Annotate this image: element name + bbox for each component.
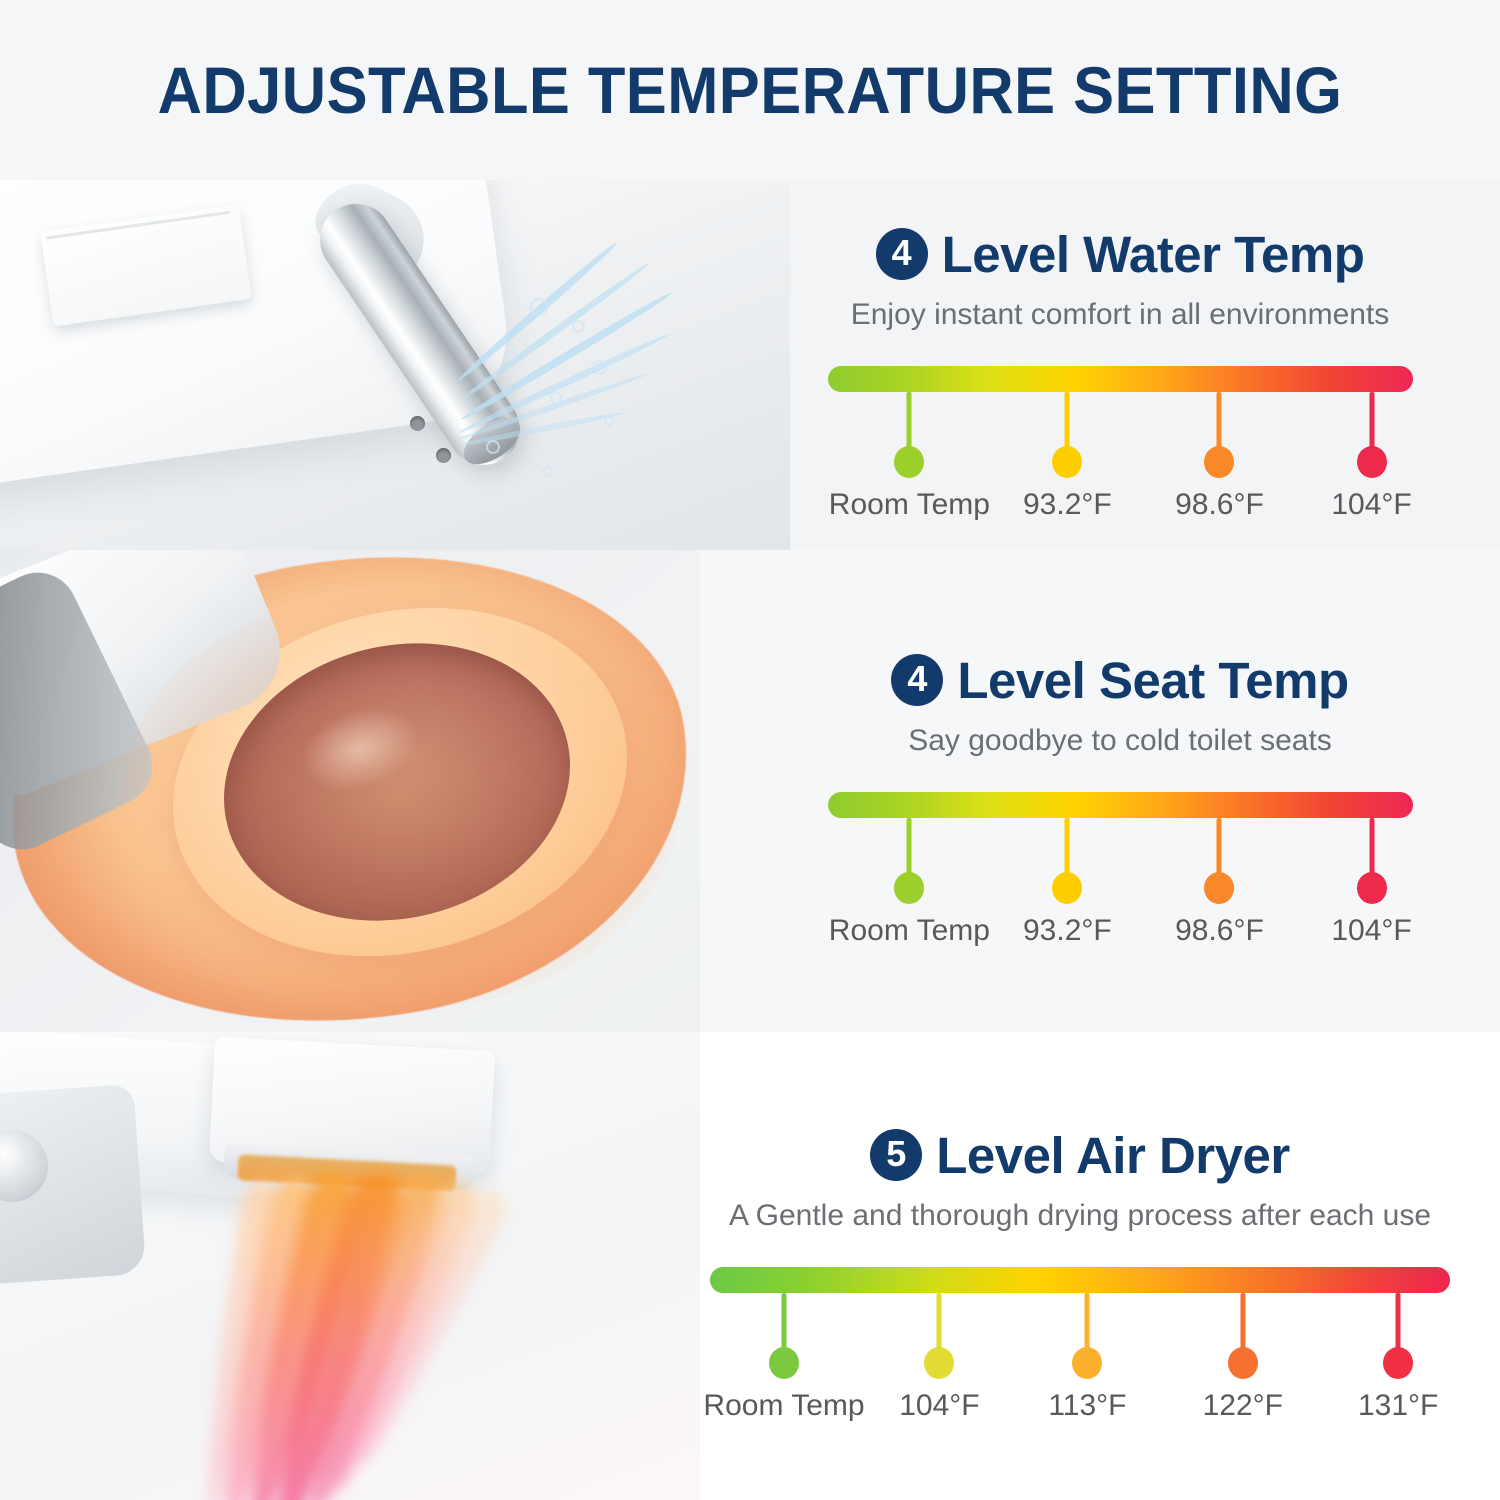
marker-dot [894, 872, 924, 904]
water-bubble [592, 360, 607, 375]
water-gradient-bar [828, 366, 1413, 392]
marker-stem [937, 1293, 942, 1355]
seat-temp-heading-text: Level Seat Temp [957, 651, 1348, 710]
marker-dot [924, 1347, 954, 1379]
seat-gradient-bar [828, 792, 1413, 818]
air-dryer-scale: Room Temp 104°F 113°F 122°F [710, 1267, 1450, 1407]
seat-temp-heading: 4 Level Seat Temp [891, 651, 1348, 710]
marker-dot [1052, 872, 1082, 904]
marker-stem [1217, 392, 1222, 454]
water-bubble [604, 416, 614, 426]
water-bubble [506, 350, 517, 361]
marker-label: 131°F [1358, 1389, 1438, 1423]
panel-water-temp: 4 Level Water Temp Enjoy instant comfort… [0, 180, 1500, 550]
water-temp-text-block: 4 Level Water Temp Enjoy instant comfort… [740, 180, 1500, 550]
marker-label: 98.6°F [1175, 488, 1264, 522]
water-temp-scale: Room Temp 93.2°F 98.6°F 104°F [828, 366, 1413, 506]
photo-air-dryer [0, 1032, 700, 1500]
air-dryer-subtitle: A Gentle and thorough drying process aft… [729, 1199, 1431, 1233]
water-temp-heading-text: Level Water Temp [942, 225, 1365, 284]
marker-label: Room Temp [829, 914, 990, 948]
marker-dot [1357, 446, 1387, 478]
photo-heated-seat [0, 550, 700, 1032]
water-temp-subtitle: Enjoy instant comfort in all environment… [851, 298, 1390, 332]
marker-label: 104°F [1331, 914, 1411, 948]
seat-temp-text-block: 4 Level Seat Temp Say goodbye to cold to… [740, 550, 1500, 1032]
marker-stem [1065, 392, 1070, 454]
marker-stem [907, 392, 912, 454]
marker-stem [782, 1293, 787, 1355]
panel-air-dryer: 5 Level Air Dryer A Gentle and thorough … [0, 1032, 1500, 1500]
infographic-page: ADJUSTABLE TEMPERATURE SETTING [0, 0, 1500, 1500]
marker-dot [1072, 1347, 1102, 1379]
panel-seat-temp: 4 Level Seat Temp Say goodbye to cold to… [0, 550, 1500, 1032]
marker-label: 93.2°F [1023, 914, 1112, 948]
marker-stem [1396, 1293, 1401, 1355]
seat-temp-subtitle: Say goodbye to cold toilet seats [908, 724, 1332, 758]
page-title: ADJUSTABLE TEMPERATURE SETTING [158, 52, 1343, 128]
nozzle-jet-hole [410, 416, 425, 431]
water-bubble [542, 466, 553, 477]
marker-dot [1228, 1347, 1258, 1379]
seat-temp-scale: Room Temp 93.2°F 98.6°F 104°F [828, 792, 1413, 932]
marker-stem [1065, 818, 1070, 880]
marker-label: 122°F [1203, 1389, 1283, 1423]
water-bubble [486, 440, 500, 454]
level-count-badge: 5 [870, 1129, 922, 1181]
marker-dot [894, 446, 924, 478]
dryer-gradient-bar [710, 1267, 1450, 1293]
marker-dot [1383, 1347, 1413, 1379]
title-band: ADJUSTABLE TEMPERATURE SETTING [0, 0, 1500, 180]
marker-label: Room Temp [703, 1389, 864, 1423]
heat-glow-overlay [120, 590, 680, 1010]
marker-stem [1240, 1293, 1245, 1355]
air-dryer-heading-text: Level Air Dryer [936, 1126, 1289, 1185]
marker-stem [907, 818, 912, 880]
marker-label: 98.6°F [1175, 914, 1264, 948]
marker-dot [1052, 446, 1082, 478]
marker-dot [1204, 872, 1234, 904]
water-bubble [550, 392, 562, 404]
marker-stem [1369, 392, 1374, 454]
marker-stem [1085, 1293, 1090, 1355]
marker-stem [1217, 818, 1222, 880]
marker-label: 113°F [1048, 1389, 1126, 1423]
nozzle-jet-hole [436, 448, 451, 463]
water-bubble [572, 320, 585, 333]
marker-label: 93.2°F [1023, 488, 1112, 522]
marker-label: Room Temp [829, 488, 990, 522]
level-count-badge: 4 [891, 654, 943, 706]
level-count-badge: 4 [876, 228, 928, 280]
marker-label: 104°F [899, 1389, 979, 1423]
marker-dot [1357, 872, 1387, 904]
marker-dot [1204, 446, 1234, 478]
air-dryer-text-block: 5 Level Air Dryer A Gentle and thorough … [660, 1032, 1500, 1500]
marker-dot [769, 1347, 799, 1379]
water-bubble [530, 298, 548, 316]
marker-label: 104°F [1331, 488, 1411, 522]
marker-stem [1369, 818, 1374, 880]
photo-bidet-nozzle [0, 180, 790, 550]
water-temp-heading: 4 Level Water Temp [876, 225, 1365, 284]
air-dryer-heading: 5 Level Air Dryer [870, 1126, 1289, 1185]
